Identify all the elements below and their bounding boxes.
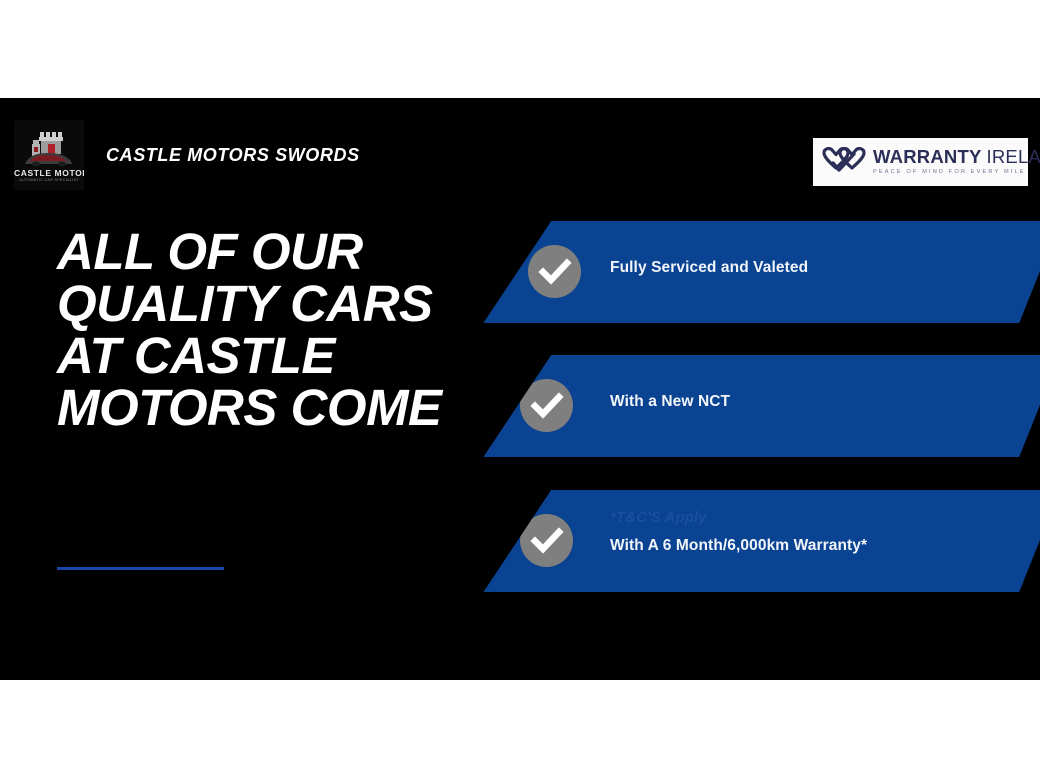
check-icon bbox=[520, 514, 573, 567]
black-banner-panel: CASTLE MOTORS AUTOMATIC CAR SPECIALIST C… bbox=[0, 98, 1040, 680]
check-icon bbox=[520, 379, 573, 432]
feature-label: With a New NCT bbox=[610, 393, 730, 411]
feature-label: Fully Serviced and Valeted bbox=[610, 259, 808, 277]
check-icon bbox=[528, 245, 581, 298]
feature-bar-nct[interactable]: With a New NCT bbox=[460, 355, 1040, 457]
feature-bar-warranty[interactable]: *T&C'S Apply With A 6 Month/6,000km Warr… bbox=[460, 490, 1040, 592]
promo-banner-stage: CASTLE MOTORS AUTOMATIC CAR SPECIALIST C… bbox=[0, 0, 1040, 780]
feature-bar-serviced[interactable]: Fully Serviced and Valeted bbox=[460, 221, 1040, 323]
feature-list: Fully Serviced and Valeted With a New NC… bbox=[0, 98, 1040, 680]
terms-and-conditions-note: *T&C'S Apply bbox=[610, 509, 707, 526]
feature-label: With A 6 Month/6,000km Warranty* bbox=[610, 537, 867, 555]
